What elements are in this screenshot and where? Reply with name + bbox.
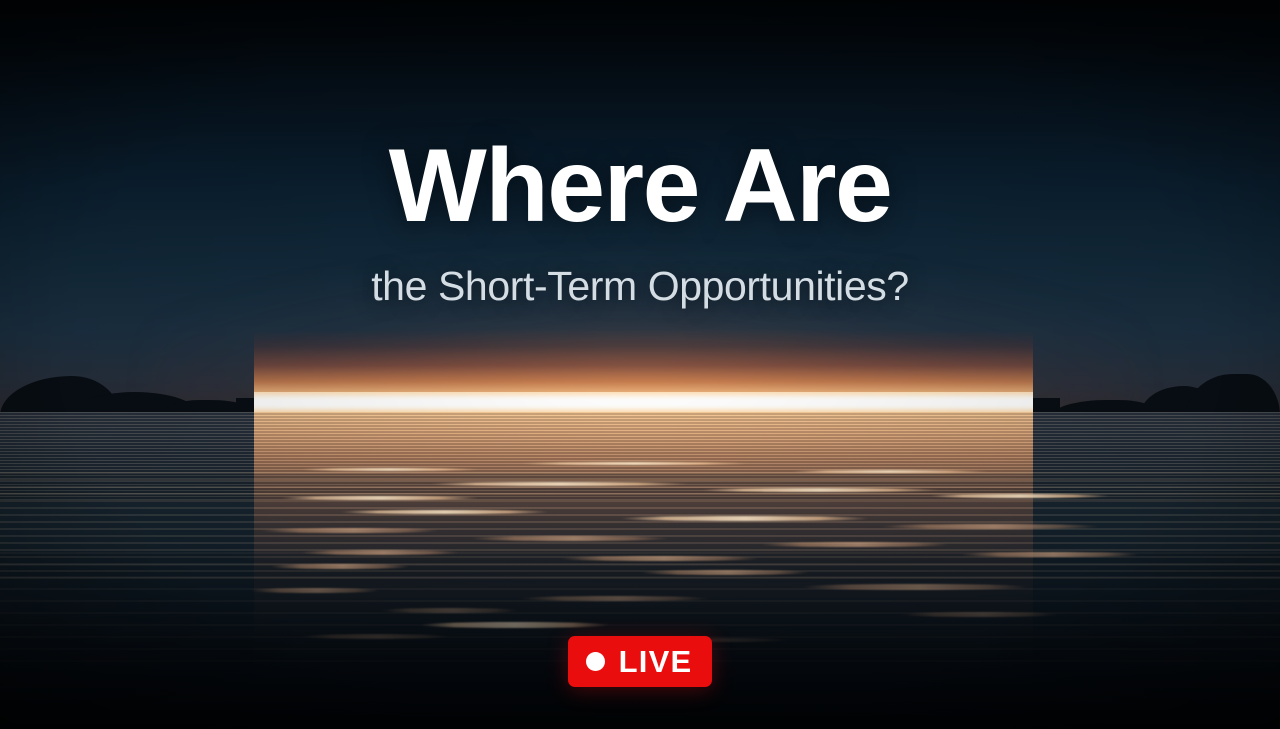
slide-subtitle: the Short-Term Opportunities? [371, 264, 909, 309]
record-dot-icon [586, 652, 605, 671]
live-status-badge[interactable]: LIVE [568, 636, 713, 687]
live-badge-row: LIVE [0, 636, 1280, 687]
live-badge-label: LIVE [619, 646, 693, 677]
presentation-slide: Where Are the Short-Term Opportunities? … [0, 0, 1280, 729]
slide-title: Where Are [389, 134, 892, 238]
